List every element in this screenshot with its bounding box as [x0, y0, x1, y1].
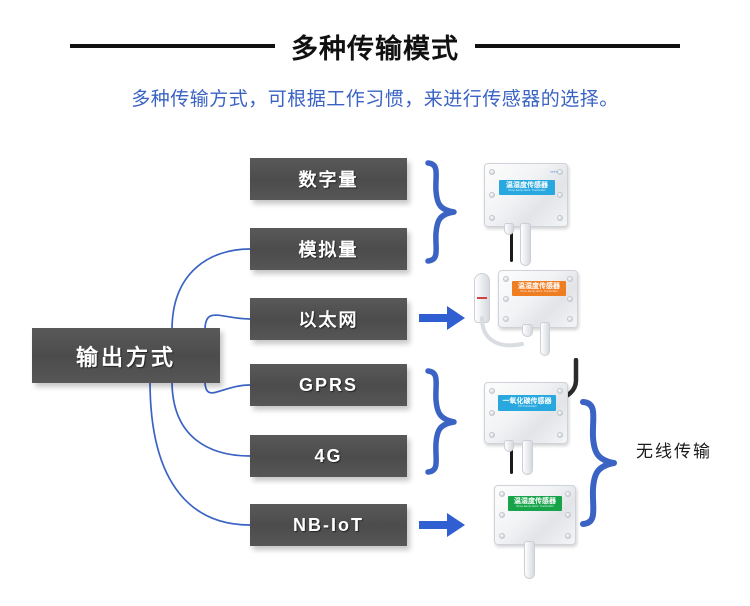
screw-icon [565, 533, 571, 539]
screw-icon [567, 296, 573, 302]
sensor-carbon-monoxide: 一氧化碳传感器 CO Transmitter [476, 370, 586, 475]
screw-icon [557, 215, 563, 221]
sensor-body: 温湿度传感器 Temp.&amp;Humi. Transmitter [494, 485, 576, 545]
probe-cable [470, 314, 550, 356]
mode-box-4g[interactable]: 4G [250, 435, 407, 477]
sensor-probe [524, 541, 535, 579]
mode-label-digital: 数字量 [299, 166, 359, 192]
screw-icon [499, 533, 505, 539]
screw-icon [557, 192, 563, 198]
mode-box-nbiot[interactable]: NB-IoT [250, 504, 407, 546]
sensor-body: ▪▪▪▪ 温湿度传感器 Temp.&amp;Humi. Transmitter [484, 163, 568, 227]
screw-icon [489, 169, 495, 175]
arrow-nbiot-icon [419, 510, 467, 540]
sensor-label-en: Temp.&amp;Humi. Transmitter [508, 190, 546, 193]
screw-icon [567, 276, 573, 282]
screw-icon [557, 410, 563, 416]
connector-to-analog [172, 249, 250, 330]
sensor-body: 一氧化碳传感器 CO Transmitter [484, 382, 568, 444]
mode-label-ethernet: 以太网 [299, 306, 359, 332]
mode-box-analog[interactable]: 模拟量 [250, 228, 407, 270]
screw-icon [499, 512, 505, 518]
sensor-probe [522, 440, 533, 475]
screw-icon [489, 215, 495, 221]
connector-to-4g [172, 381, 250, 456]
sensor-label-band: 温湿度传感器 Temp.&amp;Humi. Transmitter [512, 281, 566, 296]
mode-label-4g: 4G [314, 446, 342, 467]
screw-icon [503, 276, 509, 282]
arrow-ethernet-icon [419, 303, 467, 333]
sensor-probe [540, 322, 550, 356]
transmission-diagram: 输出方式 数字量 模拟量 以太网 GPRS 4G NB-IoT [0, 0, 750, 606]
source-output-label: 输出方式 [76, 340, 176, 372]
sensor-probe [520, 223, 531, 266]
sensor-probe-base [504, 223, 514, 235]
sensor-temp-humidity-blue: ▪▪▪▪ 温湿度传感器 Temp.&amp;Humi. Transmitter [478, 163, 574, 268]
screw-icon [489, 432, 495, 438]
mode-label-gprs: GPRS [299, 375, 358, 396]
sensor-label-en: Temp.&amp;Humi. Transmitter [516, 506, 554, 509]
screw-icon [489, 410, 495, 416]
page-root: 多种传输模式 多种传输方式，可根据工作习惯，来进行传感器的选择。 输出方式 数字… [0, 0, 750, 606]
brace-digital-analog-icon [424, 160, 464, 265]
screw-icon [503, 296, 509, 302]
source-output-box[interactable]: 输出方式 [32, 328, 220, 383]
wireless-transmission-label: 无线传输 [636, 437, 712, 462]
sensor-probe-base [522, 324, 533, 337]
sensor-label-band: 温湿度传感器 Temp.&amp;Humi. Transmitter [499, 180, 555, 195]
sensor-label-en: CO Transmitter [518, 405, 537, 408]
connector-to-nbiot [150, 381, 250, 525]
sensor-temp-humidity-green: 温湿度传感器 Temp.&amp;Humi. Transmitter [488, 485, 584, 580]
brand-mark: ▪▪▪▪ [550, 170, 558, 174]
screw-icon [499, 491, 505, 497]
mode-label-nbiot: NB-IoT [293, 515, 364, 536]
screw-icon [565, 491, 571, 497]
mode-box-digital[interactable]: 数字量 [250, 158, 407, 200]
mode-box-gprs[interactable]: GPRS [250, 364, 407, 406]
external-probe-stripe [477, 297, 487, 299]
mode-label-analog: 模拟量 [299, 236, 359, 262]
sensor-label-en: Temp.&amp;Humi. Transmitter [520, 291, 558, 294]
screw-icon [557, 388, 563, 394]
sensor-temp-humidity-orange: 温湿度传感器 Temp.&amp;Humi. Transmitter [470, 270, 580, 370]
screw-icon [567, 316, 573, 322]
brace-gprs-4g-icon [424, 368, 464, 476]
sensor-label-band: 一氧化碳传感器 CO Transmitter [498, 395, 556, 411]
screw-icon [565, 512, 571, 518]
screw-icon [489, 192, 495, 198]
screw-icon [557, 432, 563, 438]
sensor-probe-base [504, 440, 514, 452]
mode-box-ethernet[interactable]: 以太网 [250, 298, 407, 340]
sensor-label-band: 温湿度传感器 Temp.&amp;Humi. Transmitter [508, 496, 562, 511]
screw-icon [489, 388, 495, 394]
